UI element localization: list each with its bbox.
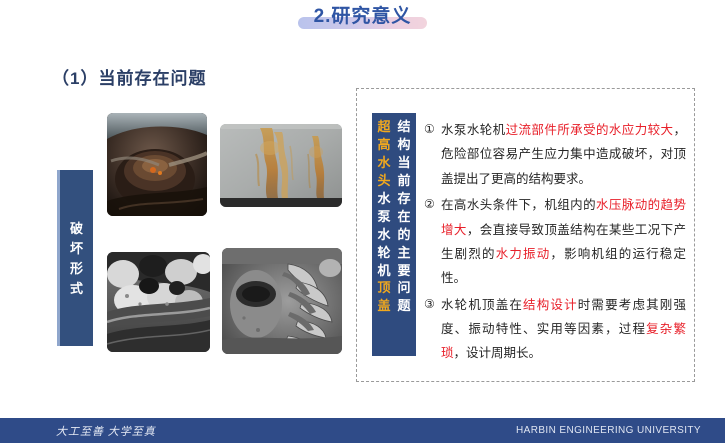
caption-char: 存 [397,190,410,208]
photo-corroded-steel-plate [220,124,342,207]
problem-text: 水泵水轮机过流部件所承受的水应力较大，危险部位容易产生应力集中造成破坏，对顶盖提… [441,118,686,191]
caption-char: 水 [377,190,390,208]
problem-marker: ③ [424,293,441,316]
problem-text: 水轮机顶盖在结构设计时需要考虑其刚强度、振动特性、实用等因素，过程复杂繁琐，设计… [441,293,686,366]
problem-list: ① 水泵水轮机过流部件所承受的水应力较大，危险部位容易产生应力集中造成破坏，对顶… [424,118,686,368]
caption-char: 超 [377,118,390,136]
damage-label-char: 坏 [70,242,83,255]
caption-column-subject: 超 高 水 头 水 泵 水 轮 机 顶 盖 [374,118,394,351]
caption-char: 机 [377,262,390,280]
plain-phrase: 水轮机顶盖在 [441,298,523,312]
caption-char: 结 [397,118,410,136]
panel-vertical-caption: 超 高 水 头 水 泵 水 轮 机 顶 盖 结 构 当 前 存 在 的 主 要 … [372,113,416,356]
caption-char: 泵 [377,208,390,226]
plain-phrase: ，设计周期长。 [454,346,542,360]
caption-char: 盖 [377,297,390,315]
caption-char: 顶 [377,279,390,297]
highlighted-phrase: 水力振动 [496,247,551,261]
damage-label-char: 破 [70,222,83,235]
damage-label-char: 形 [70,262,83,275]
caption-char: 轮 [377,244,390,262]
footer-bar: 大工至善 大学至真 HARBIN ENGINEERING UNIVERSITY [0,418,725,443]
photo-cavitation-damage [107,252,210,352]
damage-label-char: 式 [70,282,83,295]
caption-column-predicate: 结 构 当 前 存 在 的 主 要 问 题 [394,118,414,351]
problem-marker: ② [424,193,441,216]
problem-text: 在高水头条件下，机组内的水压脉动的趋势增大，会直接导致顶盖结构在某些工况下产生剧… [441,193,686,291]
highlighted-phrase: 过流部件所承受的水应力较大 [506,123,674,137]
plain-phrase: 在高水头条件下，机组内的 [441,198,596,212]
page-title: 2.研究意义 [314,4,412,30]
caption-char: 前 [397,172,410,190]
caption-char: 水 [377,226,390,244]
section-heading: （1）当前存在问题 [52,64,206,89]
caption-char: 题 [397,297,410,315]
caption-char: 当 [397,154,410,172]
caption-char: 主 [397,244,410,262]
highlighted-phrase: 结构设计 [523,298,578,312]
problem-item: ② 在高水头条件下，机组内的水压脉动的趋势增大，会直接导致顶盖结构在某些工况下产… [424,193,686,291]
footer-university-name: HARBIN ENGINEERING UNIVERSITY [516,425,701,436]
caption-char: 头 [377,172,390,190]
caption-char: 水 [377,154,390,172]
slide-title-bar: 2.研究意义 [0,4,725,40]
caption-char: 在 [397,208,410,226]
caption-char: 高 [377,136,390,154]
problem-marker: ① [424,118,441,141]
caption-char: 要 [397,262,410,280]
damage-form-label: 破 坏 形 式 [57,170,93,346]
footer-motto: 大工至善 大学至真 [56,423,156,439]
photo-rusted-head-cover [107,113,207,216]
caption-char: 问 [397,279,410,297]
caption-char: 构 [397,136,410,154]
problem-item: ① 水泵水轮机过流部件所承受的水应力较大，危险部位容易产生应力集中造成破坏，对顶… [424,118,686,191]
plain-phrase: 水泵水轮机 [441,123,506,137]
problem-item: ③ 水轮机顶盖在结构设计时需要考虑其刚强度、振动特性、实用等因素，过程复杂繁琐，… [424,293,686,366]
photo-pump-turbine-runner [222,248,342,354]
caption-char: 的 [397,226,410,244]
